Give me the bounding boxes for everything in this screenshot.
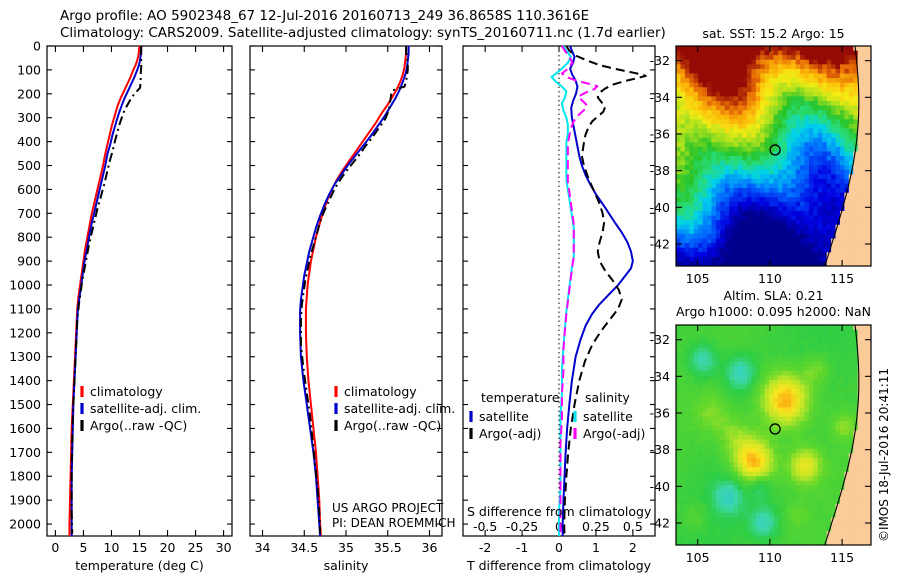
svg-text:-36: -36 [650, 127, 670, 142]
svg-text:110: 110 [758, 550, 782, 565]
svg-text:T difference from climatology: T difference from climatology [466, 558, 652, 573]
svg-text:0: 0 [555, 540, 563, 555]
svg-text:110: 110 [758, 271, 782, 286]
svg-text:-42: -42 [650, 516, 670, 531]
svg-text:300: 300 [17, 110, 41, 125]
svg-text:115: 115 [830, 550, 854, 565]
svg-text:200: 200 [17, 86, 41, 101]
svg-text:sat. SST: 15.2 Argo: 15: sat. SST: 15.2 Argo: 15 [702, 26, 844, 41]
svg-text:climatology: climatology [344, 384, 417, 399]
svg-text:0.25: 0.25 [582, 519, 610, 534]
svg-text:-32: -32 [650, 53, 670, 68]
svg-text:5: 5 [79, 540, 87, 555]
svg-text:800: 800 [17, 230, 41, 245]
svg-text:-0.25: -0.25 [506, 519, 538, 534]
svg-text:Argo(-adj): Argo(-adj) [583, 426, 645, 441]
svg-text:900: 900 [17, 254, 41, 269]
svg-text:satellite-adj. clim.: satellite-adj. clim. [344, 401, 455, 416]
svg-text:2000: 2000 [9, 517, 41, 532]
svg-text:-0.5: -0.5 [473, 519, 497, 534]
svg-text:-40: -40 [650, 200, 670, 215]
svg-text:34.5: 34.5 [290, 540, 318, 555]
svg-text:20: 20 [160, 540, 176, 555]
svg-text:satellite-adj. clim.: satellite-adj. clim. [90, 401, 201, 416]
svg-text:salinity: salinity [585, 390, 630, 405]
svg-text:-32: -32 [650, 332, 670, 347]
svg-text:30: 30 [216, 540, 232, 555]
svg-text:1: 1 [592, 540, 600, 555]
svg-text:1400: 1400 [9, 373, 41, 388]
svg-text:2: 2 [629, 540, 637, 555]
svg-text:35: 35 [338, 540, 354, 555]
svg-text:105: 105 [686, 271, 710, 286]
svg-text:10: 10 [104, 540, 120, 555]
svg-text:1100: 1100 [9, 301, 41, 316]
svg-text:Argo(..raw -QC): Argo(..raw -QC) [90, 418, 187, 433]
svg-text:temperature (deg C): temperature (deg C) [75, 558, 204, 573]
svg-text:climatology: climatology [90, 384, 163, 399]
svg-text:600: 600 [17, 182, 41, 197]
svg-text:1300: 1300 [9, 349, 41, 364]
svg-text:-1: -1 [516, 540, 528, 555]
svg-text:1700: 1700 [9, 445, 41, 460]
svg-text:400: 400 [17, 134, 41, 149]
svg-text:34: 34 [255, 540, 271, 555]
svg-text:satellite: satellite [479, 409, 529, 424]
svg-text:S difference from climatology: S difference from climatology [467, 504, 652, 519]
svg-text:25: 25 [188, 540, 204, 555]
svg-text:-34: -34 [650, 90, 670, 105]
svg-text:-2: -2 [479, 540, 491, 555]
svg-text:1600: 1600 [9, 421, 41, 436]
svg-text:-38: -38 [650, 163, 670, 178]
svg-text:-34: -34 [650, 369, 670, 384]
svg-text:-42: -42 [650, 237, 670, 252]
svg-text:105: 105 [686, 550, 710, 565]
svg-text:15: 15 [132, 540, 148, 555]
svg-text:Altim. SLA: 0.21: Altim. SLA: 0.21 [723, 288, 823, 303]
svg-text:35.5: 35.5 [374, 540, 402, 555]
svg-text:satellite: satellite [583, 409, 633, 424]
svg-text:36: 36 [422, 540, 438, 555]
svg-text:1200: 1200 [9, 325, 41, 340]
svg-text:0: 0 [33, 39, 41, 54]
svg-text:1800: 1800 [9, 469, 41, 484]
figure-canvas: 0100200300400500600700800900100011001200… [0, 0, 900, 580]
svg-text:temperature: temperature [481, 390, 560, 405]
svg-text:©IMOS 18-Jul-2016 20:41:11: ©IMOS 18-Jul-2016 20:41:11 [877, 368, 891, 542]
svg-text:1500: 1500 [9, 397, 41, 412]
svg-text:Argo h1000: 0.095 h2000: NaN: Argo h1000: 0.095 h2000: NaN [676, 304, 871, 319]
svg-text:-40: -40 [650, 479, 670, 494]
svg-text:115: 115 [830, 271, 854, 286]
svg-text:100: 100 [17, 62, 41, 77]
svg-text:-38: -38 [650, 442, 670, 457]
svg-text:1900: 1900 [9, 493, 41, 508]
svg-text:PI: DEAN ROEMMICH: PI: DEAN ROEMMICH [332, 516, 455, 530]
svg-text:Argo(..raw -QC): Argo(..raw -QC) [344, 418, 441, 433]
svg-text:700: 700 [17, 206, 41, 221]
svg-text:0: 0 [51, 540, 59, 555]
svg-text:-36: -36 [650, 406, 670, 421]
svg-text:US ARGO PROJECT: US ARGO PROJECT [332, 501, 444, 515]
svg-text:1000: 1000 [9, 278, 41, 293]
svg-text:salinity: salinity [324, 558, 369, 573]
svg-text:Argo(-adj): Argo(-adj) [479, 426, 541, 441]
svg-text:500: 500 [17, 158, 41, 173]
svg-text:0.5: 0.5 [623, 519, 643, 534]
